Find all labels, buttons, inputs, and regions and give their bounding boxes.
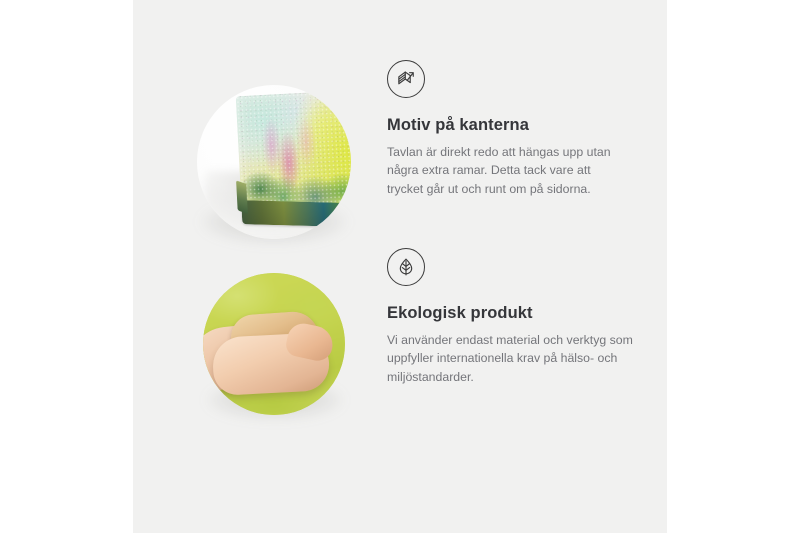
canvas-edge-wrap-icon	[387, 60, 425, 98]
feature-copy-edges: Motiv på kanterna Tavlan är direkt redo …	[387, 60, 655, 199]
feature-body: Vi använder endast material och verktyg …	[387, 331, 633, 387]
feature-motiv-pa-kanterna: Motiv på kanterna Tavlan är direkt redo …	[133, 60, 667, 260]
feature-body-line: Vi använder endast material och verktyg …	[387, 331, 633, 350]
feature-body-line: Tavlan är direkt redo att hängas upp uta…	[387, 143, 633, 162]
feature-body-line: några extra ramar. Detta tack vare att	[387, 161, 633, 180]
hands-holding-wood-chips-photo	[203, 273, 345, 415]
leaf-glyph	[395, 256, 417, 278]
product-benefits-banner: Motiv på kanterna Tavlan är direkt redo …	[0, 0, 800, 533]
leaf-icon	[387, 248, 425, 286]
feature-title: Motiv på kanterna	[387, 116, 655, 136]
feature-body-line: uppfyller internationella krav på hälso-…	[387, 349, 633, 368]
content-panel: Motiv på kanterna Tavlan är direkt redo …	[133, 0, 667, 533]
feature-body: Tavlan är direkt redo att hängas upp uta…	[387, 143, 633, 199]
canvas-wrapped-edge	[241, 200, 351, 227]
canvas-block	[236, 90, 351, 226]
canvas-printed-face	[236, 90, 351, 208]
feature-title: Ekologisk produkt	[387, 304, 655, 324]
feature-copy-eco: Ekologisk produkt Vi använder endast mat…	[387, 248, 655, 387]
feature-body-line: trycket går ut och runt om på sidorna.	[387, 180, 633, 199]
canvas-edge-wrap-glyph	[395, 68, 417, 90]
feature-body-line: miljöstandarder.	[387, 368, 633, 387]
feature-ekologisk-produkt: Ekologisk produkt Vi använder endast mat…	[133, 248, 667, 448]
canvas-side-return-edge	[236, 180, 248, 213]
canvas-print-corner-photo	[197, 85, 351, 239]
